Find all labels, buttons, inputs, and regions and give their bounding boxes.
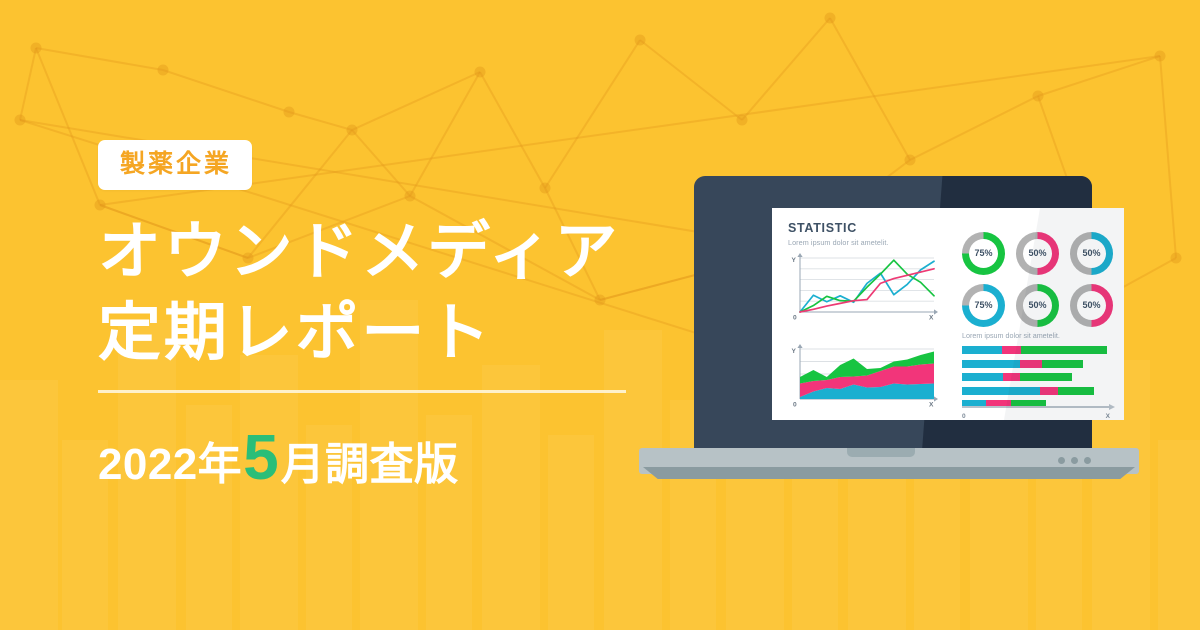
stacked-bar-caption: Lorem ipsum dolor sit ametelit. <box>962 332 1114 339</box>
bar-segment-green <box>1021 346 1107 354</box>
y-axis-label: Y <box>792 348 797 355</box>
laptop-base-lip <box>643 467 1135 479</box>
donut-value-label: 50% <box>1082 301 1100 310</box>
date-year: 2022年 <box>98 443 242 487</box>
network-link <box>163 70 289 112</box>
donut-gauge-group: 75%50%50%75%50%50% <box>962 232 1114 322</box>
network-node <box>1171 253 1182 264</box>
network-node <box>1033 91 1044 102</box>
stacked-bar-rows <box>962 346 1114 408</box>
donut-gauge: 75% <box>962 232 1005 275</box>
network-node <box>284 107 295 118</box>
donut-value-label: 50% <box>1028 249 1046 258</box>
donut-gauge: 50% <box>1016 284 1059 327</box>
x-axis-label: X <box>929 402 934 409</box>
hero-text-block: 製薬企業 オウンドメディア 定期レポート <box>98 140 658 373</box>
title-line-1: オウンドメディア <box>98 212 658 293</box>
bar-segment-green <box>1020 373 1072 381</box>
network-node <box>475 67 486 78</box>
donut-hole: 50% <box>1077 239 1106 268</box>
network-node <box>347 125 358 136</box>
bar-x-axis <box>962 406 1110 408</box>
network-node <box>737 115 748 126</box>
network-link <box>1160 56 1176 258</box>
donut-hole: 75% <box>969 291 998 320</box>
donut-gauge: 50% <box>1016 232 1059 275</box>
stacked-bar-row <box>962 373 1114 381</box>
network-node <box>1155 51 1166 62</box>
donut-hole: 50% <box>1023 291 1052 320</box>
origin-label: 0 <box>793 402 797 409</box>
bar-axis-origin-label: 0 <box>962 413 966 420</box>
stacked-bar-row <box>962 360 1114 368</box>
donut-hole: 50% <box>1023 239 1052 268</box>
background-bar <box>482 365 540 630</box>
network-link <box>830 18 910 160</box>
network-link <box>910 96 1038 160</box>
bar-segment-green <box>1058 387 1094 395</box>
network-link <box>20 48 36 120</box>
area-chart: Y0X <box>788 343 938 411</box>
x-axis-arrow <box>934 396 938 401</box>
base-indicator-dot <box>1058 457 1065 464</box>
date-suffix: 月調査版 <box>281 443 459 487</box>
stacked-bar-row <box>962 387 1114 395</box>
laptop-base-dots <box>1058 457 1091 464</box>
network-node <box>905 155 916 166</box>
line-chart-panel: Y0X <box>788 252 938 324</box>
bar-segment-pink <box>1003 373 1019 381</box>
y-axis-arrow <box>797 344 802 348</box>
area-chart-panel: Y0X <box>788 343 938 411</box>
y-axis-arrow <box>797 253 802 257</box>
laptop-screen: STATISTIC Lorem ipsum dolor sit ametelit… <box>772 208 1124 420</box>
donut-gauge: 50% <box>1070 284 1113 327</box>
bar-segment-cyan <box>962 387 1040 395</box>
network-node <box>635 35 646 46</box>
network-link <box>36 48 100 205</box>
line-series-series-green <box>800 260 934 312</box>
title-divider <box>98 390 626 393</box>
bar-segment-cyan <box>962 373 1003 381</box>
survey-date: 2022年 5 月調査版 <box>98 425 458 489</box>
bar-segment-pink <box>1020 360 1042 368</box>
base-indicator-dot <box>1084 457 1091 464</box>
laptop-trackpad-notch <box>847 448 915 457</box>
bar-segment-pink <box>1002 346 1021 354</box>
donut-value-label: 50% <box>1082 249 1100 258</box>
stacked-bar-row <box>962 346 1114 354</box>
network-link <box>640 40 742 120</box>
donut-gauge: 50% <box>1070 232 1113 275</box>
donut-value-label: 50% <box>1028 301 1046 310</box>
laptop-lid: STATISTIC Lorem ipsum dolor sit ametelit… <box>694 176 1092 451</box>
bar-segment-green <box>1042 360 1083 368</box>
network-node <box>825 13 836 24</box>
base-indicator-dot <box>1071 457 1078 464</box>
network-node <box>31 43 42 54</box>
donut-value-label: 75% <box>974 301 992 310</box>
origin-label: 0 <box>793 315 797 322</box>
background-bar <box>1158 440 1200 630</box>
bar-segment-cyan <box>962 360 1020 368</box>
date-month-number: 5 <box>243 425 279 489</box>
donut-hole: 75% <box>969 239 998 268</box>
donut-value-label: 75% <box>974 249 992 258</box>
title-line-2: 定期レポート <box>98 293 658 374</box>
donut-gauge: 75% <box>962 284 1005 327</box>
network-link <box>1038 56 1160 96</box>
bar-axis-x-label: X <box>1106 413 1110 420</box>
donut-row: 75%50%50% <box>962 232 1114 275</box>
background-bar <box>548 435 594 630</box>
background-bar <box>0 380 58 630</box>
bar-segment-cyan <box>962 346 1002 354</box>
donut-row: 75%50%50% <box>962 284 1114 327</box>
donut-hole: 50% <box>1077 291 1106 320</box>
network-node <box>158 65 169 76</box>
x-axis-arrow <box>934 309 938 314</box>
bar-segment-pink <box>1040 387 1058 395</box>
x-axis-label: X <box>929 315 934 322</box>
page-title: オウンドメディア 定期レポート <box>98 212 658 373</box>
network-link <box>352 72 480 130</box>
y-axis-label: Y <box>792 257 797 264</box>
stacked-bar-panel: Lorem ipsum dolor sit ametelit. 0 X <box>962 332 1114 412</box>
network-link <box>742 18 830 120</box>
network-node <box>15 115 26 126</box>
laptop-illustration: STATISTIC Lorem ipsum dolor sit ametelit… <box>639 176 1139 496</box>
category-badge: 製薬企業 <box>98 140 252 190</box>
poster-canvas: 製薬企業 オウンドメディア 定期レポート 2022年 5 月調査版 STATIS… <box>0 0 1200 630</box>
network-link <box>289 112 352 130</box>
network-link <box>36 48 163 70</box>
line-chart: Y0X <box>788 252 938 324</box>
